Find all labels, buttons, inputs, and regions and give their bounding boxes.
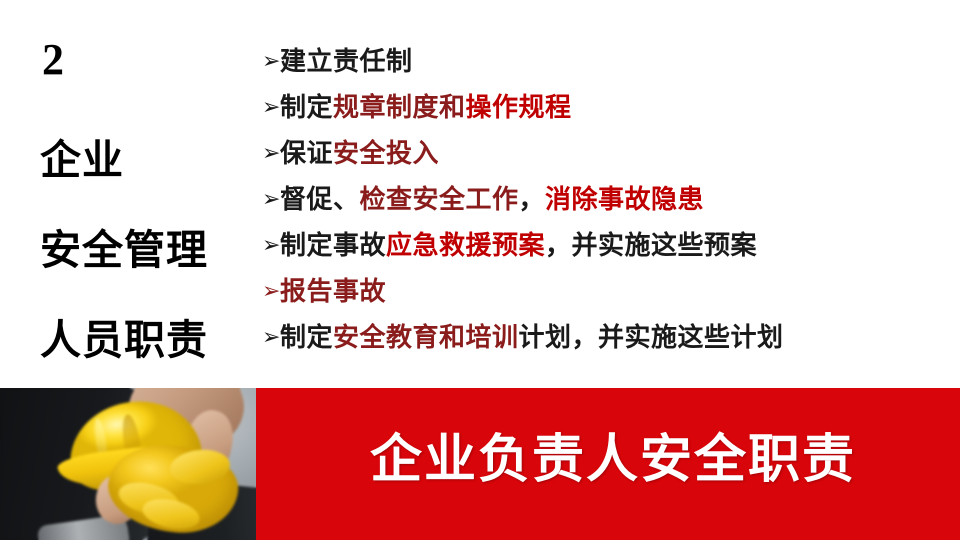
bullet-text-segment: 建立责任制 (280, 47, 413, 77)
bullet-text: 保证安全投入 (280, 137, 439, 171)
bullet-text: 报告事故 (280, 275, 386, 309)
bullet-text: 建立责任制 (280, 45, 413, 79)
bullet-text-segment: 督促、 (280, 185, 360, 215)
bullet-arrow-icon: ➢ (262, 45, 280, 79)
bullet-text: 制定规章制度和操作规程 (280, 91, 572, 125)
bullet-text-segment: 安全教育和培训 (333, 323, 519, 353)
bullet-text-segment: 保证 (280, 139, 333, 169)
slide-number: 2 (42, 38, 64, 82)
bullet-row: ➢制定安全教育和培训计划，并实施这些计划 (262, 321, 952, 367)
bullet-text: 制定安全教育和培训计划，并实施这些计划 (280, 321, 784, 355)
bullet-text: 制定事故应急救援预案，并实施这些预案 (280, 229, 757, 263)
bullet-row: ➢报告事故 (262, 275, 952, 321)
bullet-text-segment: 报告事故 (280, 277, 386, 307)
bullet-text-segment: 制定事故 (280, 231, 386, 261)
bullet-text-segment: 消除事故隐患 (545, 185, 704, 215)
title-line-2: 安全管理 (40, 230, 208, 271)
responsibility-bullet-list: ➢建立责任制➢制定规章制度和操作规程➢保证安全投入➢督促、检查安全工作，消除事故… (262, 45, 952, 367)
bullet-arrow-icon: ➢ (262, 91, 280, 125)
bullet-text-segment: 制定 (280, 323, 333, 353)
bullet-arrow-icon: ➢ (262, 137, 280, 171)
slide-canvas: 2 企业 安全管理 人员职责 ➢建立责任制➢制定规章制度和操作规程➢保证安全投入… (0, 0, 960, 540)
bullet-text-segment: 检查安全工作 (360, 185, 519, 215)
bullet-text-segment: 计划，并实施这些计划 (519, 323, 784, 353)
bullet-text-segment: 规章制度和 (333, 93, 466, 123)
slide-title-block: 2 企业 安全管理 人员职责 (0, 30, 258, 385)
bullet-row: ➢建立责任制 (262, 45, 952, 91)
bullet-arrow-icon: ➢ (262, 275, 280, 309)
bullet-text-segment: ，并实施这些预案 (545, 231, 757, 261)
bullet-arrow-icon: ➢ (262, 183, 280, 217)
bullet-row: ➢督促、检查安全工作，消除事故隐患 (262, 183, 952, 229)
bullet-text-segment: 安全投入 (333, 139, 439, 169)
photo-blur-overlay (0, 388, 256, 540)
bullet-text-segment: 应急救援预案 (386, 231, 545, 261)
bullet-text-segment: 操作规程 (466, 93, 572, 123)
bullet-row: ➢制定事故应急救援预案，并实施这些预案 (262, 229, 952, 275)
bullet-text-segment: ， (519, 185, 546, 215)
title-line-3: 人员职责 (40, 320, 208, 361)
bullet-text-segment: 制定 (280, 93, 333, 123)
bullet-row: ➢制定规章制度和操作规程 (262, 91, 952, 137)
hard-hat-photo (0, 388, 256, 540)
bullet-arrow-icon: ➢ (262, 229, 280, 263)
banner-title: 企业负责人安全职责 (370, 430, 870, 490)
bullet-text: 督促、检查安全工作，消除事故隐患 (280, 183, 704, 217)
title-line-1: 企业 (40, 140, 124, 181)
bullet-arrow-icon: ➢ (262, 321, 280, 355)
bullet-row: ➢保证安全投入 (262, 137, 952, 183)
